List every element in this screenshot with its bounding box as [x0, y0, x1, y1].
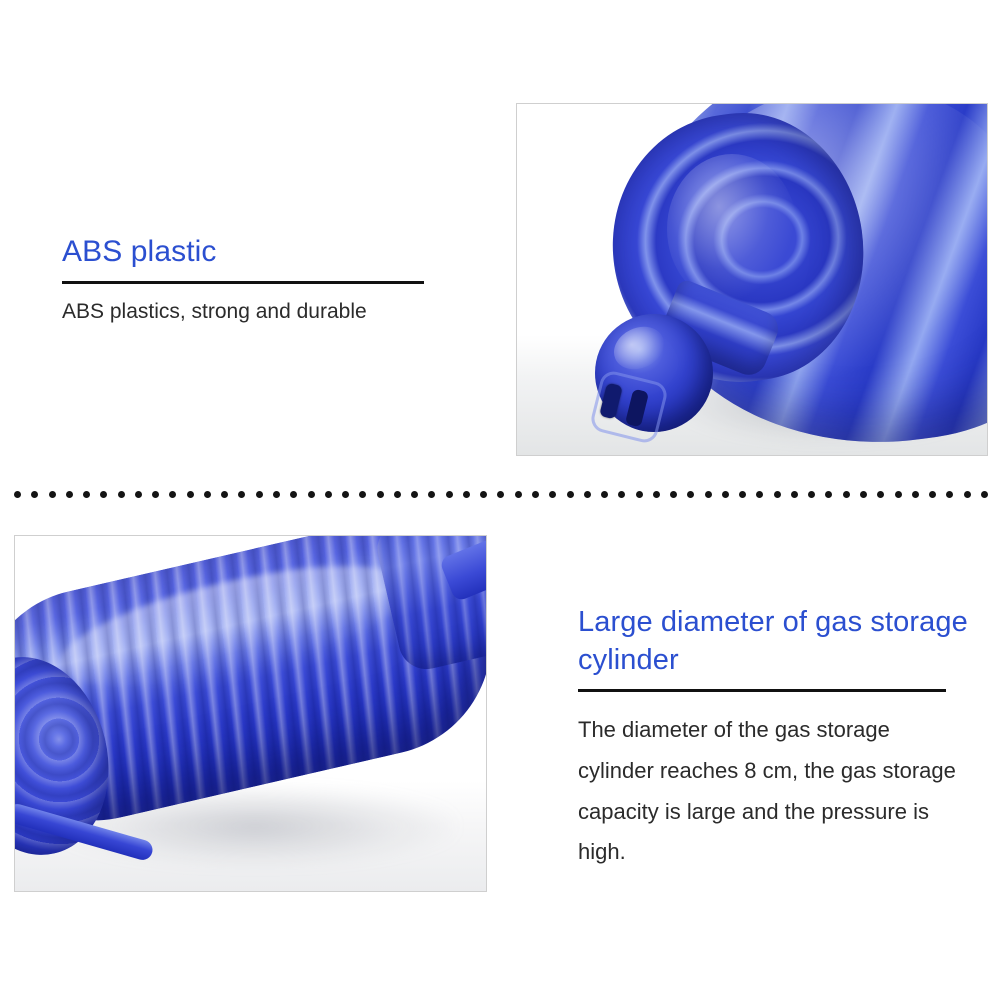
divider-dot	[480, 491, 487, 498]
dotted-divider	[14, 489, 988, 499]
divider-dot	[843, 491, 850, 498]
divider-dot	[49, 491, 56, 498]
divider-dot	[238, 491, 245, 498]
divider-dot	[308, 491, 315, 498]
divider-dot	[411, 491, 418, 498]
divider-dot	[290, 491, 297, 498]
divider-dot	[152, 491, 159, 498]
divider-dot	[463, 491, 470, 498]
divider-dot	[825, 491, 832, 498]
divider-dot	[394, 491, 401, 498]
product-photo-cylinder	[14, 535, 487, 892]
divider-dot	[687, 491, 694, 498]
product-feature-page: ABS plastic ABS plastics, strong and dur…	[0, 0, 1001, 1001]
divider-dot	[31, 491, 38, 498]
divider-dot	[756, 491, 763, 498]
divider-dot	[359, 491, 366, 498]
divider-dot	[877, 491, 884, 498]
feature-headline: Large diameter of gas storage cylinder	[578, 604, 978, 679]
divider-dot	[981, 491, 988, 498]
divider-dot	[670, 491, 677, 498]
divider-dot	[567, 491, 574, 498]
divider-dot	[256, 491, 263, 498]
divider-dot	[912, 491, 919, 498]
divider-dot	[135, 491, 142, 498]
divider-dot	[739, 491, 746, 498]
divider-dot	[66, 491, 73, 498]
product-photo-nozzle	[516, 103, 988, 456]
divider-dot	[860, 491, 867, 498]
divider-dot	[946, 491, 953, 498]
divider-dot	[618, 491, 625, 498]
divider-dot	[100, 491, 107, 498]
divider-dot	[722, 491, 729, 498]
divider-dot	[636, 491, 643, 498]
divider-dot	[584, 491, 591, 498]
divider-dot	[895, 491, 902, 498]
divider-dot	[601, 491, 608, 498]
divider-dot	[774, 491, 781, 498]
divider-dot	[377, 491, 384, 498]
divider-dot	[705, 491, 712, 498]
divider-dot	[497, 491, 504, 498]
divider-dot	[808, 491, 815, 498]
divider-dot	[204, 491, 211, 498]
divider-dot	[791, 491, 798, 498]
divider-dot	[532, 491, 539, 498]
divider-dot	[929, 491, 936, 498]
divider-dot	[221, 491, 228, 498]
divider-dot	[187, 491, 194, 498]
feature-subtext: ABS plastics, strong and durable	[62, 284, 492, 325]
divider-dot	[169, 491, 176, 498]
feature-abs-plastic: ABS plastic ABS plastics, strong and dur…	[62, 232, 492, 325]
divider-dot	[118, 491, 125, 498]
feature-gas-storage-cylinder: Large diameter of gas storage cylinder T…	[578, 604, 978, 873]
feature-headline: ABS plastic	[62, 232, 492, 271]
divider-dot	[14, 491, 21, 498]
divider-dot	[446, 491, 453, 498]
divider-dot	[653, 491, 660, 498]
divider-dot	[325, 491, 332, 498]
divider-dot	[549, 491, 556, 498]
divider-dot	[964, 491, 971, 498]
divider-dot	[515, 491, 522, 498]
feature-subtext: The diameter of the gas storage cylinder…	[578, 692, 970, 873]
divider-dot	[83, 491, 90, 498]
divider-dot	[273, 491, 280, 498]
divider-dot	[342, 491, 349, 498]
divider-dot	[428, 491, 435, 498]
